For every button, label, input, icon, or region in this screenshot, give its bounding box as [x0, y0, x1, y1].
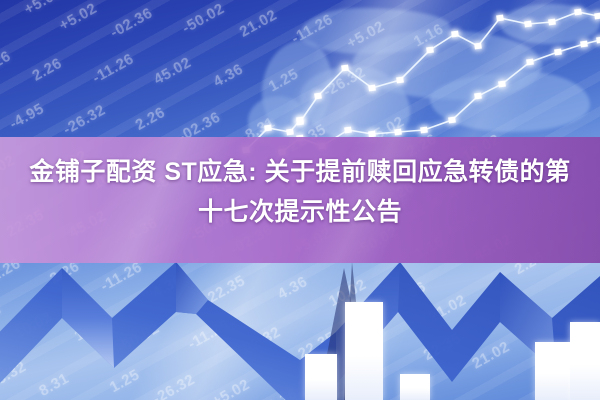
page-title-line-1: 金铺子配资 ST应急: 关于提前赎回应急转债的第 [18, 152, 582, 192]
bar-chart-bar [570, 322, 600, 400]
bar-chart-bar [305, 354, 337, 400]
stock-news-banner: -50.02-02.36-11.26+5.02-02.3621.021.16-4… [0, 0, 600, 400]
bar-chart-bar [535, 342, 575, 400]
bar-chart-bar [400, 374, 430, 400]
bar-chart-bar [345, 302, 383, 400]
page-title-line-2: 十七次提示性公告 [18, 192, 582, 232]
page-title: 金铺子配资 ST应急: 关于提前赎回应急转债的第 十七次提示性公告 [0, 152, 600, 232]
